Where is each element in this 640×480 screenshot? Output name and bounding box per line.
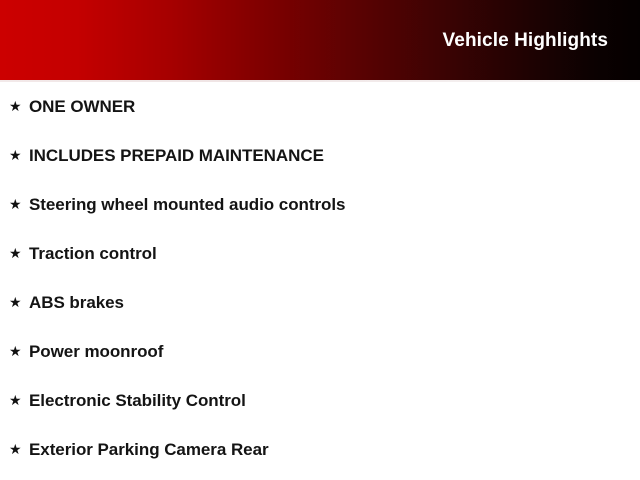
list-item: ★ ONE OWNER: [0, 82, 640, 131]
highlight-label: Steering wheel mounted audio controls: [29, 195, 345, 215]
highlight-label: ABS brakes: [29, 293, 124, 313]
highlight-label: INCLUDES PREPAID MAINTENANCE: [29, 146, 324, 166]
star-bullet-icon: ★: [9, 148, 29, 162]
highlight-label: Electronic Stability Control: [29, 391, 246, 411]
star-bullet-icon: ★: [9, 393, 29, 407]
page-title: Vehicle Highlights: [443, 31, 640, 50]
list-item: ★ ABS brakes: [0, 278, 640, 327]
vehicle-highlights-list: ★ ONE OWNER ★ INCLUDES PREPAID MAINTENAN…: [0, 82, 640, 474]
list-item: ★ Electronic Stability Control: [0, 376, 640, 425]
list-item: ★ Steering wheel mounted audio controls: [0, 180, 640, 229]
highlight-label: Power moonroof: [29, 342, 163, 362]
highlight-label: Exterior Parking Camera Rear: [29, 440, 269, 460]
star-bullet-icon: ★: [9, 442, 29, 456]
vehicle-highlights-page: Vehicle Highlights ★ ONE OWNER ★ INCLUDE…: [0, 0, 640, 480]
highlight-label: ONE OWNER: [29, 97, 135, 117]
list-item: ★ Power moonroof: [0, 327, 640, 376]
highlight-label: Traction control: [29, 244, 157, 264]
list-item: ★ Exterior Parking Camera Rear: [0, 425, 640, 474]
star-bullet-icon: ★: [9, 99, 29, 113]
list-item: ★ Traction control: [0, 229, 640, 278]
star-bullet-icon: ★: [9, 344, 29, 358]
star-bullet-icon: ★: [9, 246, 29, 260]
header-banner: Vehicle Highlights: [0, 0, 640, 80]
star-bullet-icon: ★: [9, 295, 29, 309]
star-bullet-icon: ★: [9, 197, 29, 211]
list-item: ★ INCLUDES PREPAID MAINTENANCE: [0, 131, 640, 180]
